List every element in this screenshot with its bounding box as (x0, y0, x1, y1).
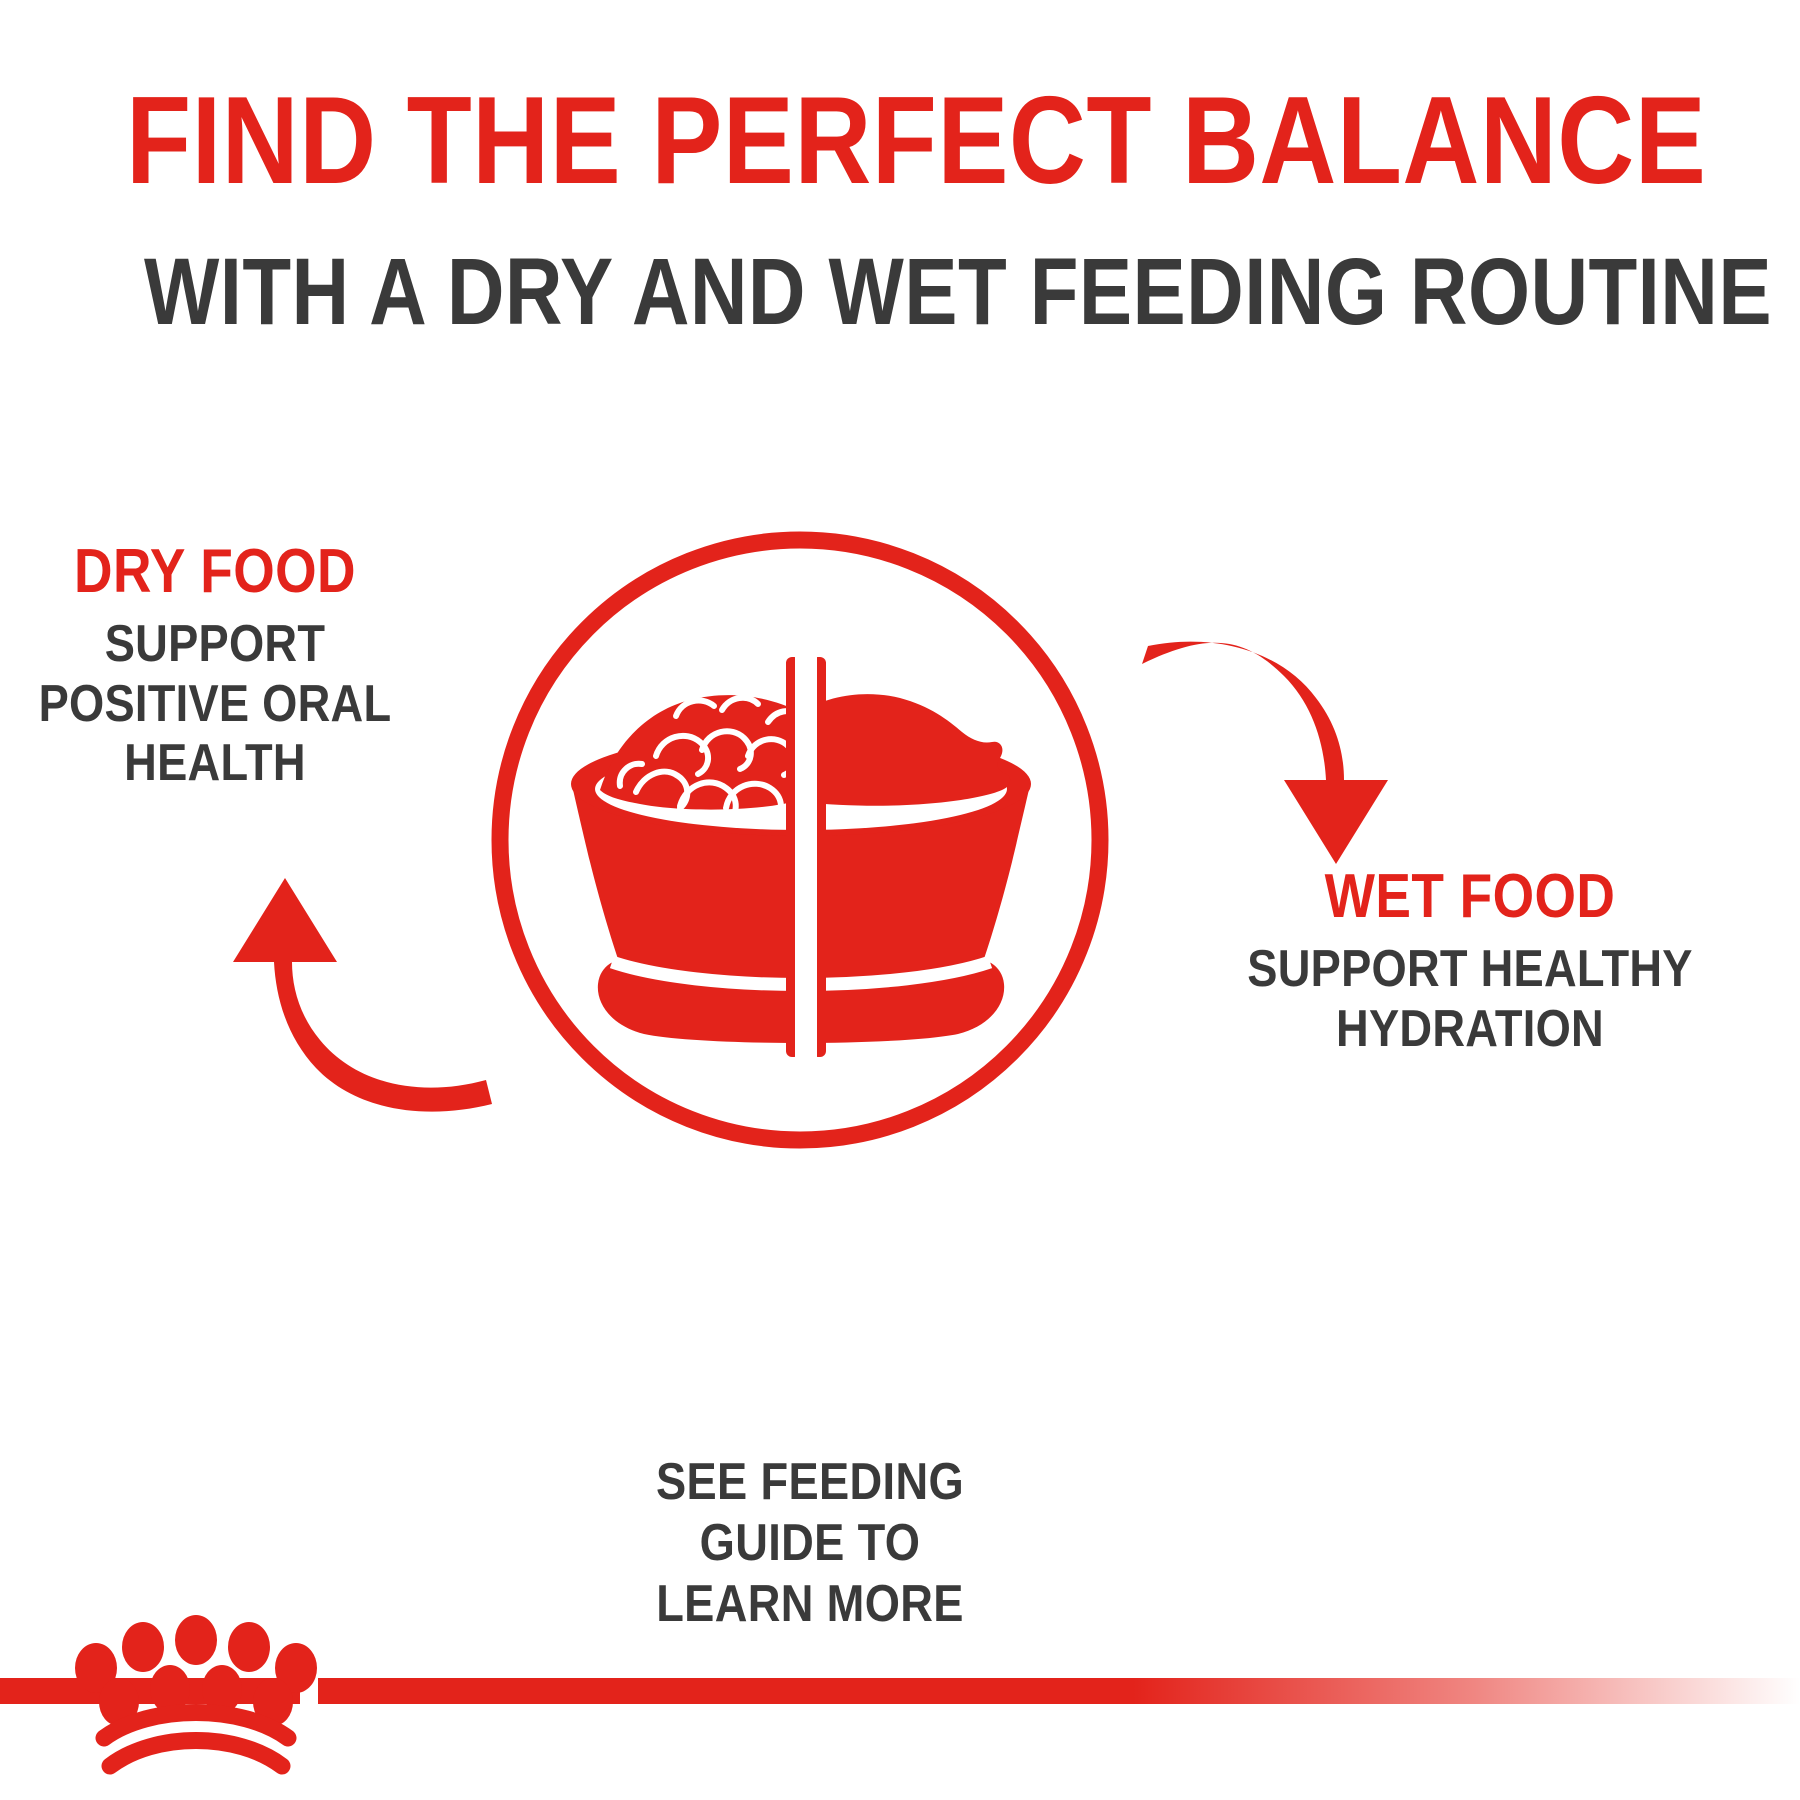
cta-line-1: SEE FEEDING (523, 1452, 1097, 1513)
page-title: FIND THE PERFECT BALANCE (126, 78, 1674, 204)
bowl-base (598, 960, 1004, 1043)
divider-bar-right (812, 657, 826, 1057)
kibble-outlines (620, 698, 798, 824)
page-subtitle: WITH A DRY AND WET FEEDING ROUTINE (144, 244, 1656, 341)
infographic-canvas: FIND THE PERFECT BALANCE WITH A DRY AND … (0, 0, 1800, 1800)
cta-line-2: GUIDE TO (523, 1513, 1097, 1574)
divider-gap (795, 655, 817, 1059)
callout-wet-description: SUPPORT HEALTHY HYDRATION (1192, 940, 1749, 1059)
dry-kibble-mound (600, 695, 800, 824)
pet-food-bowl-icon (571, 655, 1031, 1059)
callout-wet-food: WET FOOD SUPPORT HEALTHY HYDRATION (1150, 865, 1790, 1059)
footer-bar-right (318, 1678, 1800, 1704)
callout-dry-label: DRY FOOD (30, 540, 400, 603)
bowl-rim (571, 732, 1031, 836)
circle-outline (500, 540, 1100, 1140)
bowl-base-seam (612, 962, 990, 985)
callout-dry-food: DRY FOOD SUPPORT POSITIVE ORAL HEALTH (0, 540, 430, 793)
callout-dry-description: SUPPORT POSITIVE ORAL HEALTH (28, 615, 402, 793)
curved-arrow-down-right-icon (1142, 642, 1388, 864)
wet-food-mass (802, 694, 1010, 806)
bowl-rim-inner (595, 748, 1007, 830)
footer-brand-bar (0, 1590, 1800, 1800)
bowl-body (572, 785, 1030, 976)
curved-arrow-up-left-icon (233, 878, 492, 1112)
kibble-mass (600, 695, 800, 809)
callout-wet-label: WET FOOD (1195, 865, 1745, 928)
divider-bar-left (786, 657, 800, 1057)
